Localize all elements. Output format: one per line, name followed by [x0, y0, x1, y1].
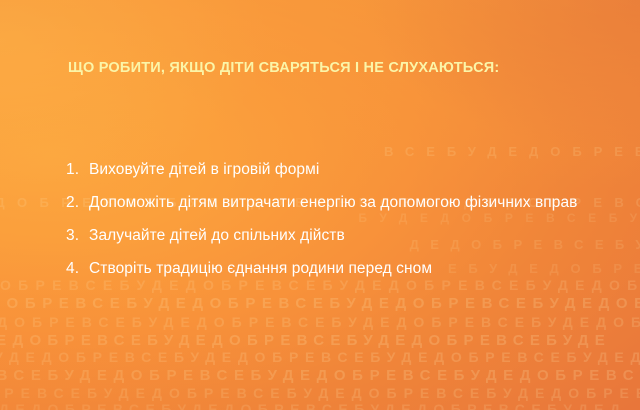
list-item: 4. Створіть традицію єднання родини пере…	[66, 255, 604, 283]
list-item-number: 2.	[66, 189, 79, 217]
page-title: ЩО РОБИТИ, ЯКЩО ДІТИ СВАРЯТЬСЯ І НЕ СЛУХ…	[68, 60, 600, 76]
list-item: 3. Залучайте дітей до спільних дійств	[66, 222, 604, 250]
list-item-label: Допоможіть дітям витрачати енергію за до…	[89, 194, 577, 211]
tips-list: 1. Виховуйте дітей в ігровій формі 2. До…	[66, 156, 604, 283]
presentation-slide: ВСЕБУДЕДОБРЕВСЕБУДЕДОБРЕВСЕБУДЕДОБРЕ ЕДО…	[0, 0, 640, 410]
list-item-label: Виховуйте дітей в ігровій формі	[89, 161, 319, 178]
list-item-label: Створіть традицію єднання родини перед с…	[89, 260, 432, 277]
list-item-label: Залучайте дітей до спільних дійств	[89, 227, 345, 244]
list-item-number: 4.	[66, 255, 79, 283]
list-item: 2. Допоможіть дітям витрачати енергію за…	[66, 189, 604, 217]
list-item-number: 1.	[66, 156, 79, 184]
slide-content: ЩО РОБИТИ, ЯКЩО ДІТИ СВАРЯТЬСЯ І НЕ СЛУХ…	[0, 0, 640, 410]
list-item-number: 3.	[66, 222, 79, 250]
list-item: 1. Виховуйте дітей в ігровій формі	[66, 156, 604, 184]
